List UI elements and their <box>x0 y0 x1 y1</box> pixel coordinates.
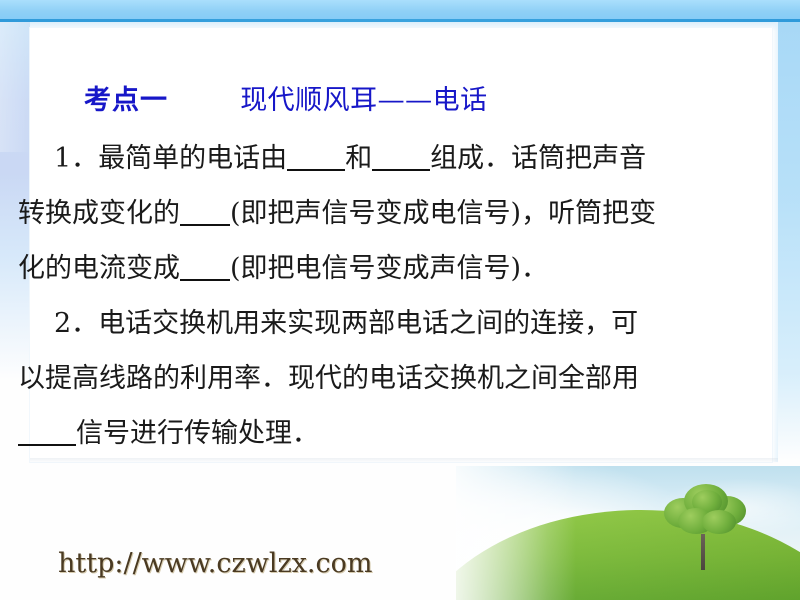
fill-blank[interactable] <box>180 224 230 226</box>
item-1-number: 1． <box>54 143 98 174</box>
fill-blank[interactable] <box>372 169 430 171</box>
body-content: 1．最简单的电话由和组成．话筒把声音 转换成变化的(即把声信号变成电信号)，听筒… <box>18 131 788 461</box>
heading-keypoint-label: 考点一 <box>84 85 168 116</box>
fill-blank[interactable] <box>287 169 345 171</box>
watermark-url: http://www.czwlzx.com <box>58 548 372 579</box>
item-1-line-2-text-b: (即把声信号变成电信号)，听筒把变 <box>230 198 656 229</box>
fill-blank[interactable] <box>18 444 76 446</box>
photo-tree-canopy <box>662 484 748 542</box>
item-1-line-1-text-c: 组成．话筒把声音 <box>430 143 646 174</box>
item-2-line-1: 2．电话交换机用来实现两部电话之间的连接，可 <box>18 296 788 351</box>
slide-canvas: 考点一 现代顺风耳——电话 1．最简单的电话由和组成．话筒把声音 转换成变化的(… <box>0 0 800 600</box>
item-1-line-3-text-a: 化的电流变成 <box>18 253 180 284</box>
photo-left-fade <box>456 466 576 600</box>
item-1-line-3: 化的电流变成(即把电信号变成声信号)． <box>18 241 788 296</box>
item-1-line-2: 转换成变化的(即把声信号变成电信号)，听筒把变 <box>18 186 788 241</box>
item-2-line-1-text: 电话交换机用来实现两部电话之间的连接，可 <box>98 308 638 339</box>
item-2-line-2: 以提高线路的利用率．现代的电话交换机之间全部用 <box>18 351 788 406</box>
item-2-line-3-text: 信号进行传输处理． <box>76 418 319 449</box>
item-1-line-1-text-a: 最简单的电话由 <box>98 143 287 174</box>
item-2-line-2-text: 以提高线路的利用率．现代的电话交换机之间全部用 <box>18 363 639 394</box>
item-1-line-2-text-a: 转换成变化的 <box>18 198 180 229</box>
page-title: 考点一 现代顺风耳——电话 <box>84 78 488 117</box>
fill-blank[interactable] <box>180 279 230 281</box>
item-1-line-3-text-b: (即把电信号变成声信号)． <box>230 253 548 284</box>
top-decorative-band <box>0 0 800 19</box>
landscape-photo <box>456 466 800 600</box>
item-2-number: 2． <box>54 308 98 339</box>
item-2-line-3: 信号进行传输处理． <box>18 406 788 461</box>
heading-topic-title: 现代顺风耳——电话 <box>240 85 488 116</box>
item-1-line-1-text-b: 和 <box>345 143 372 174</box>
item-1-line-1: 1．最简单的电话由和组成．话筒把声音 <box>18 131 788 186</box>
